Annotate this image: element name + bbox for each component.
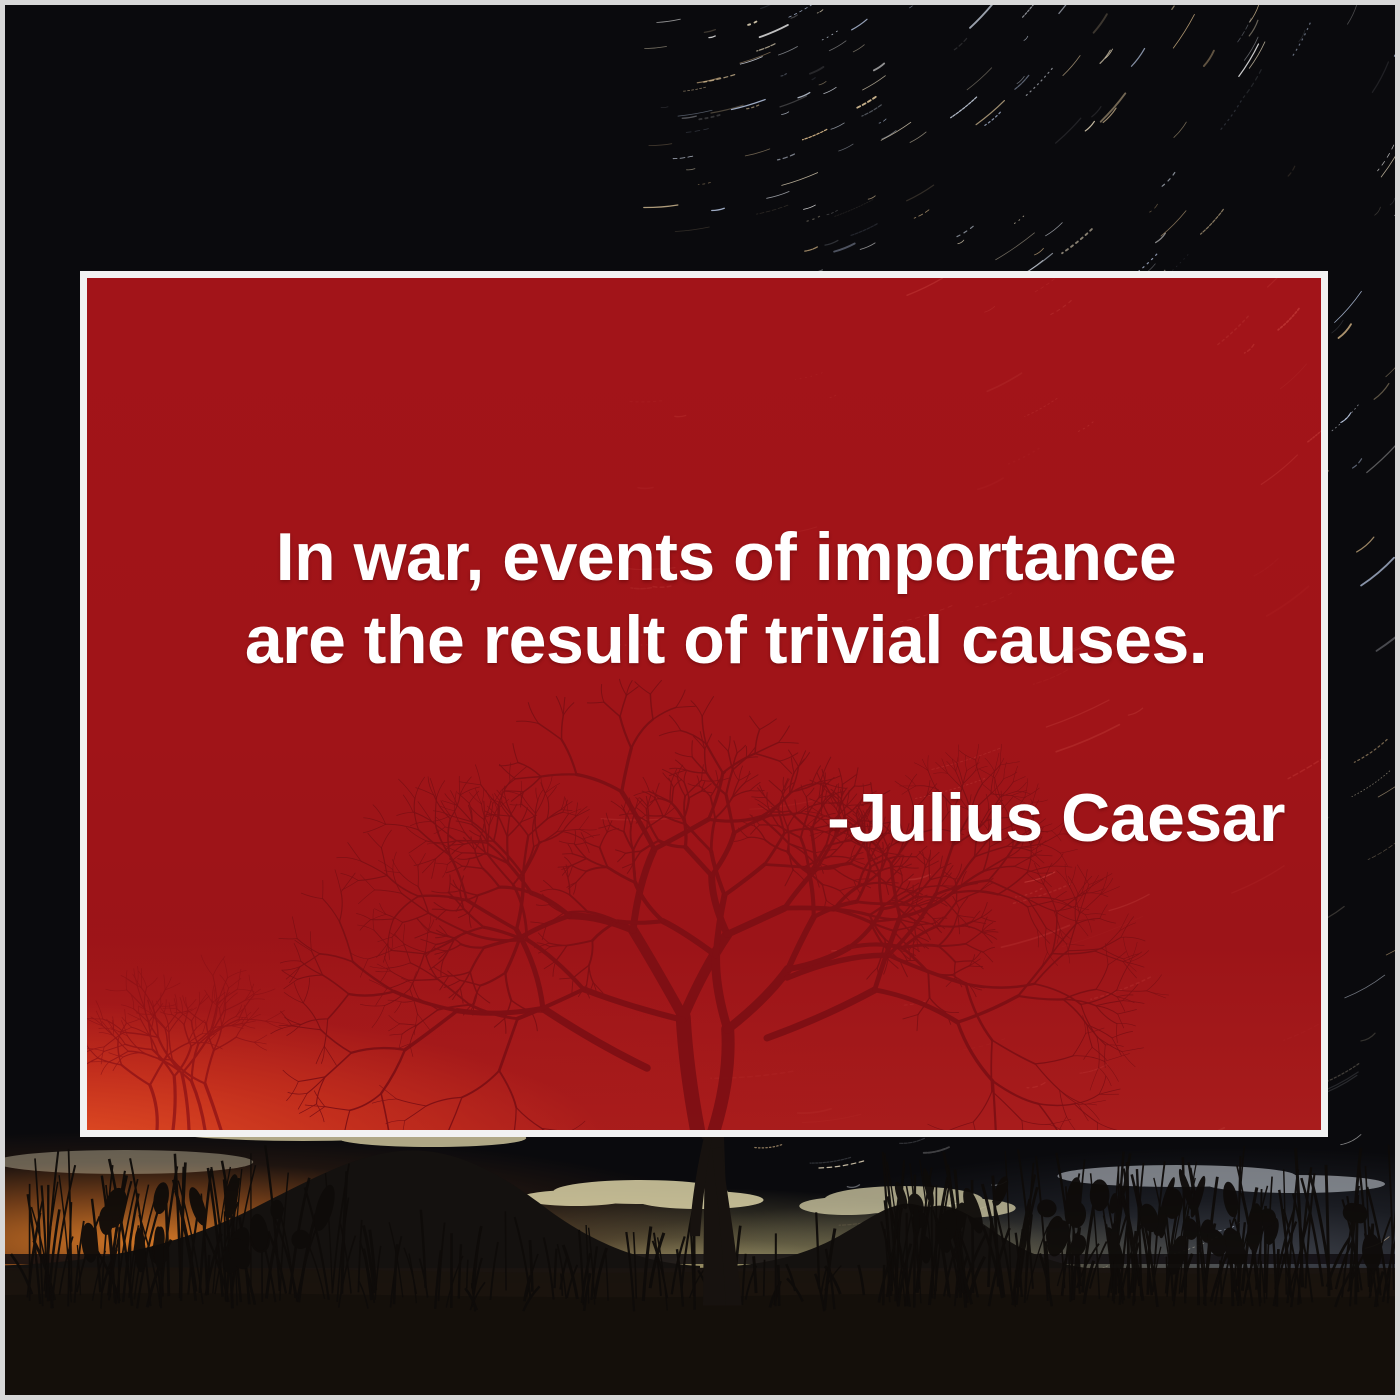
quote-line-1: In war, events of importance xyxy=(167,516,1285,599)
panel-tree-silhouette xyxy=(87,278,1321,1130)
quote-poster: In war, events of importance are the res… xyxy=(0,0,1400,1400)
quote-text-block: In war, events of importance are the res… xyxy=(167,516,1285,682)
quote-line-2: are the result of trivial causes. xyxy=(167,599,1285,682)
quote-attribution: -Julius Caesar xyxy=(827,778,1285,858)
quote-panel: In war, events of importance are the res… xyxy=(87,278,1321,1130)
quote-panel-frame: In war, events of importance are the res… xyxy=(80,271,1328,1137)
